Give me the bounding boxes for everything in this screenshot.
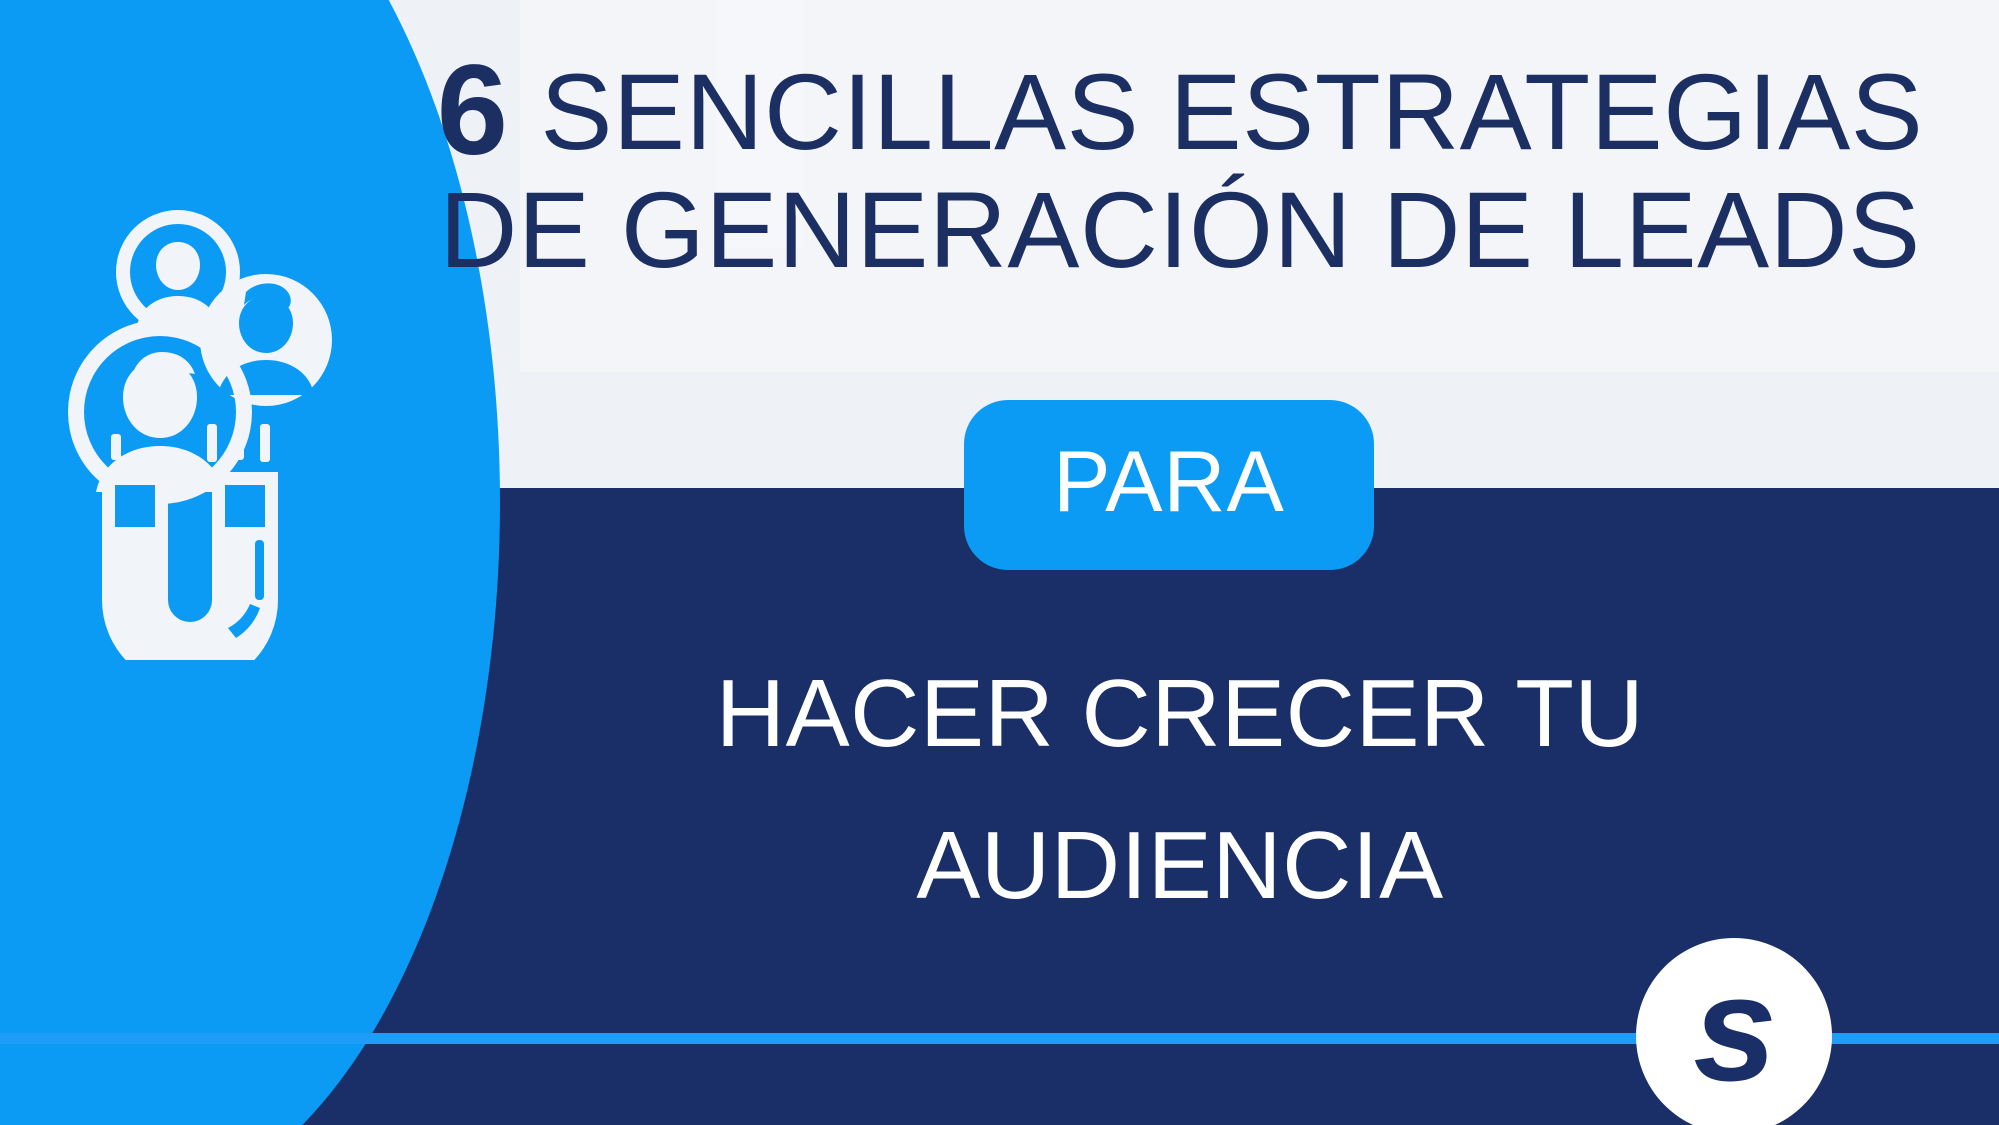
headline-line2: DE GENERACIÓN DE LEADS: [400, 171, 1960, 289]
subheadline: HACER CRECER TU AUDIENCIA: [400, 638, 1960, 942]
slide-canvas: 6 SENCILLAS ESTRATEGIAS DE GENERACIÓN DE…: [0, 0, 1999, 1125]
headline: 6 SENCILLAS ESTRATEGIAS DE GENERACIÓN DE…: [400, 52, 1960, 289]
para-pill[interactable]: PARA: [964, 400, 1374, 570]
magnet-audience-icon: [60, 200, 360, 660]
brand-logo: s: [1636, 938, 1832, 1125]
headline-line1-rest: SENCILLAS ESTRATEGIAS: [510, 51, 1923, 172]
subheadline-line1: HACER CRECER TU: [716, 660, 1645, 767]
para-pill-label: PARA: [1053, 439, 1285, 531]
subheadline-line2: AUDIENCIA: [400, 790, 1960, 942]
brand-logo-mark: s: [1693, 953, 1774, 1119]
headline-number: 6: [437, 39, 510, 182]
